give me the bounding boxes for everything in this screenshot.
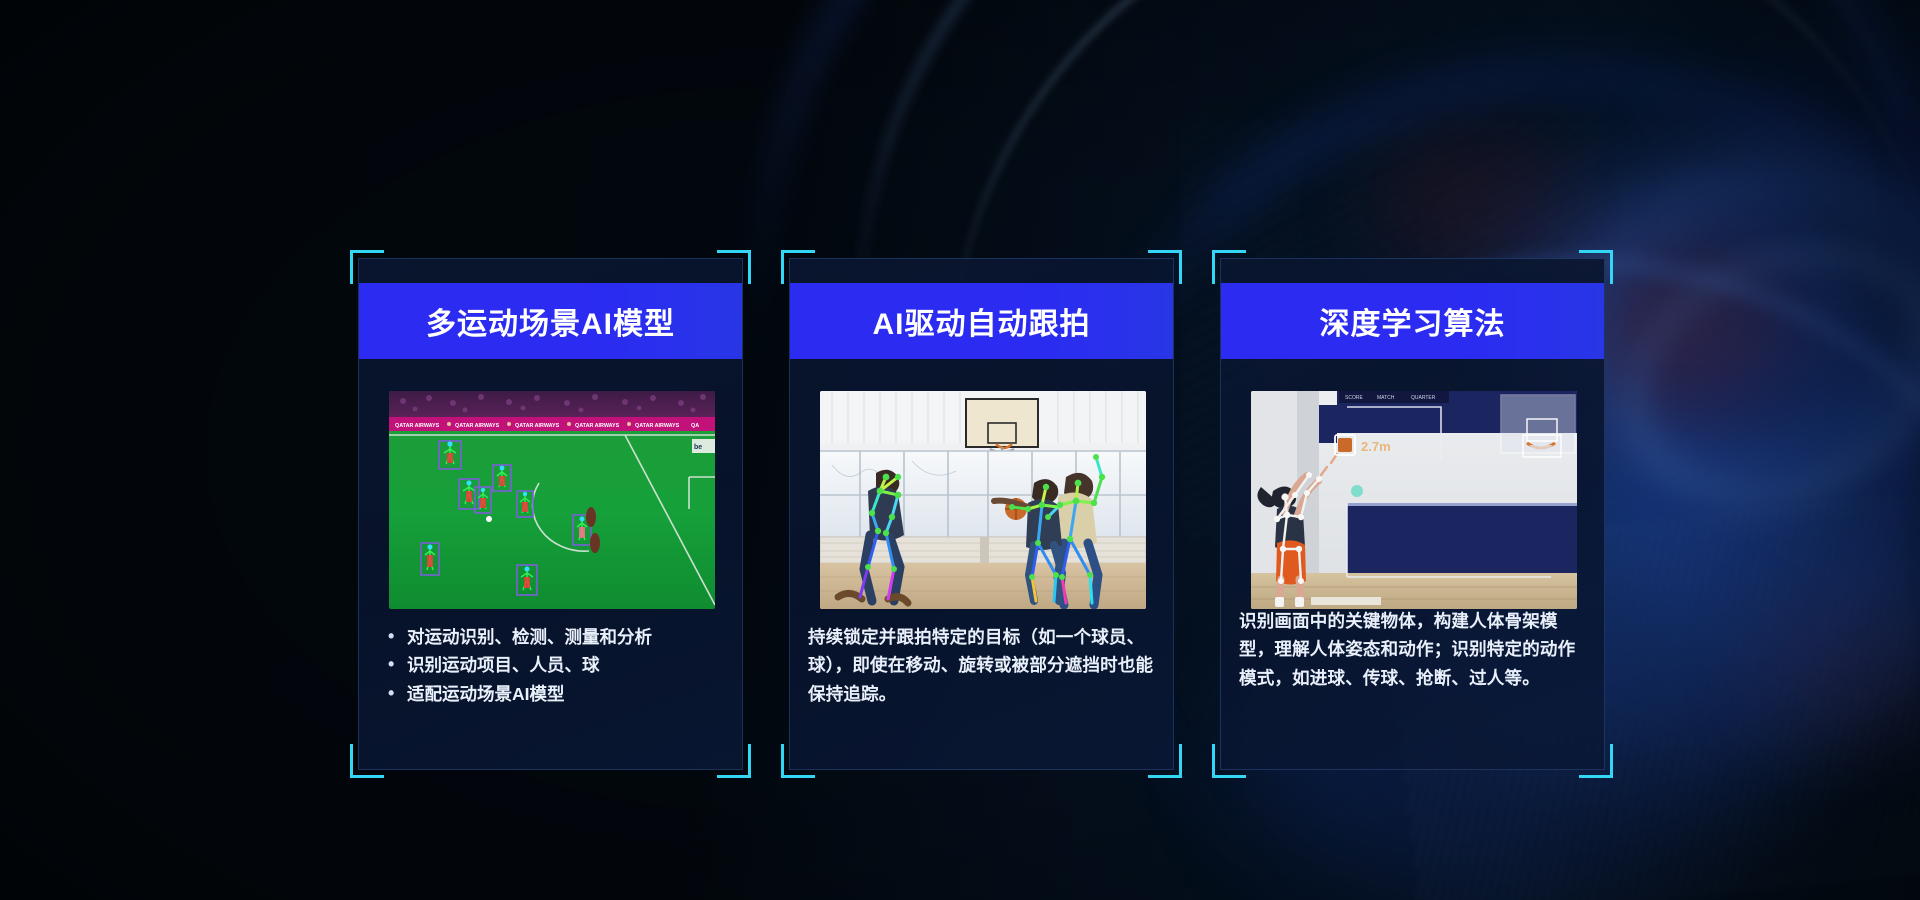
basketball-pose-tracking-thumbnail [820, 391, 1146, 609]
card-description: 识别画面中的关键物体，构建人体骨架模型，理解人体姿态和动作；识别特定的动作模式，… [1239, 607, 1590, 692]
corner-bracket-top-left-icon [781, 250, 815, 284]
svg-text:MATCH: MATCH [1377, 395, 1395, 401]
svg-text:QATAR AIRWAYS: QATAR AIRWAYS [515, 423, 560, 429]
card-title: 多运动场景AI模型 [359, 283, 742, 359]
feature-card-row: 多运动场景AI模型 [358, 258, 1605, 770]
card-body: 对运动识别、检测、测量和分析 识别运动项目、人员、球 适配运动场景AI模型 [385, 623, 720, 708]
card-title: 深度学习算法 [1221, 283, 1604, 359]
glow-blob [1700, 40, 1920, 340]
corner-bracket-top-left-icon [350, 250, 384, 284]
corner-bracket-top-right-icon [1148, 250, 1182, 284]
card-title: AI驱动自动跟拍 [790, 283, 1173, 359]
svg-text:2.7m: 2.7m [1361, 439, 1391, 454]
corner-bracket-bottom-right-icon [1579, 744, 1613, 778]
soccer-detection-thumbnail: QATAR AIRWAYS QATAR AIRWAYS QATAR AIRWAY… [389, 391, 715, 609]
list-item: 识别运动项目、人员、球 [385, 651, 720, 679]
warm-accent-glow [1760, 600, 1920, 740]
card-body: 识别画面中的关键物体，构建人体骨架模型，理解人体姿态和动作；识别特定的动作模式，… [1239, 607, 1590, 692]
corner-bracket-top-right-icon [717, 250, 751, 284]
light-ribbon-ring [1585, 197, 1920, 552]
svg-text:be: be [694, 444, 702, 451]
svg-text:QA: QA [691, 423, 699, 429]
feature-card-deep-learning[interactable]: 深度学习算法 [1220, 258, 1605, 770]
corner-bracket-top-right-icon [1579, 250, 1613, 284]
corner-bracket-top-left-icon [1212, 250, 1246, 284]
slide-stage: 多运动场景AI模型 [0, 0, 1920, 900]
svg-text:QATAR AIRWAYS: QATAR AIRWAYS [455, 423, 500, 429]
shot-trajectory-analysis-thumbnail: SCOREMATCHQUARTER [1251, 391, 1577, 609]
svg-text:QATAR AIRWAYS: QATAR AIRWAYS [635, 423, 680, 429]
svg-text:QATAR AIRWAYS: QATAR AIRWAYS [575, 423, 620, 429]
glow-blob [1600, 330, 1920, 710]
svg-text:SCORE: SCORE [1345, 395, 1363, 401]
feature-card-auto-tracking[interactable]: AI驱动自动跟拍 [789, 258, 1174, 770]
svg-text:QATAR AIRWAYS: QATAR AIRWAYS [395, 423, 440, 429]
corner-bracket-bottom-left-icon [781, 744, 815, 778]
svg-text:QUARTER: QUARTER [1411, 395, 1436, 401]
corner-bracket-bottom-right-icon [1148, 744, 1182, 778]
corner-bracket-bottom-right-icon [717, 744, 751, 778]
list-item: 对运动识别、检测、测量和分析 [385, 623, 720, 651]
feature-bullet-list: 对运动识别、检测、测量和分析 识别运动项目、人员、球 适配运动场景AI模型 [385, 623, 720, 708]
corner-bracket-bottom-left-icon [350, 744, 384, 778]
list-item: 适配运动场景AI模型 [385, 680, 720, 708]
feature-card-sports-model[interactable]: 多运动场景AI模型 [358, 258, 743, 770]
card-description: 持续锁定并跟拍特定的目标（如一个球员、球），即使在移动、旋转或被部分遮挡时也能保… [808, 623, 1159, 708]
corner-bracket-bottom-left-icon [1212, 744, 1246, 778]
card-body: 持续锁定并跟拍特定的目标（如一个球员、球），即使在移动、旋转或被部分遮挡时也能保… [808, 623, 1159, 708]
